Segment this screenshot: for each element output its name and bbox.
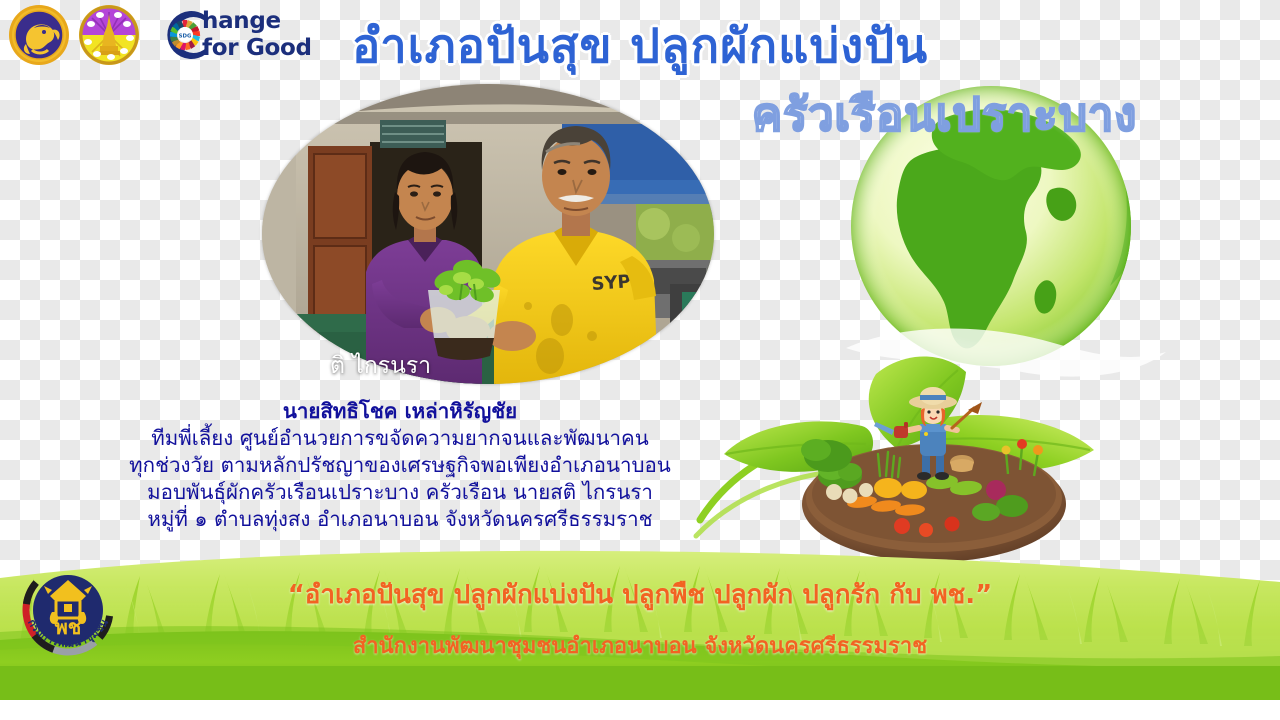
sdg-wheel-icon: SDG — [154, 4, 216, 66]
garuda-provincial-seal-icon — [8, 4, 70, 66]
footer-office-name: สำนักงานพัฒนาชุมชนอำเภอนาบอน จังหวัดนครศ… — [0, 628, 1280, 663]
svg-text:SDG: SDG — [179, 33, 192, 39]
body-line-5: หมู่ที่ ๑ ตำบลทุ่งสง อำเภอนาบอน จังหวัดน… — [0, 506, 800, 533]
body-line-3: ทุกช่วงวัย ตามหลักปรัชญาของเศรษฐกิจพอเพี… — [0, 452, 800, 479]
poster-title-line1: อำเภอปันสุข ปลูกผักแบ่งปัน — [352, 8, 1042, 83]
footer-slogan: “อำเภอปันสุข ปลูกผักแบ่งปัน ปลูกพืช ปลูก… — [0, 574, 1280, 615]
green-wave-band — [0, 548, 1280, 704]
header-logo-row: SDG hange for Good — [8, 4, 312, 66]
body-line-1: นายสิทธิโชค เหล่าหิรัญชัย — [0, 398, 800, 425]
bottom-white-strip — [0, 700, 1280, 720]
change-for-good-line1: hange — [202, 10, 312, 33]
cdd-logo: พช กรมการพัฒนาชุมชน — [14, 556, 122, 664]
change-for-good-line2: for Good — [202, 37, 312, 60]
body-text-block: นายสิทธิโชค เหล่าหิรัญชัย ทีมพี่เลี้ยง ศ… — [0, 398, 800, 533]
nakhon-si-thammarat-seal-icon — [78, 4, 140, 66]
body-line-4: มอบพันธุ์ผักครัวเรือนเปราะบาง ครัวเรือน … — [0, 479, 800, 506]
photo-caption: ติ ไกรนรา — [330, 348, 431, 384]
poster-canvas: SYP — [0, 0, 1280, 720]
cdd-monogram: พช — [55, 615, 82, 639]
svg-text:SYP: SYP — [591, 271, 632, 295]
program-photo: SYP — [262, 84, 714, 384]
poster-title-line2: ครัวเรือนเปราะบาง — [752, 78, 1272, 150]
body-line-2: ทีมพี่เลี้ยง ศูนย์อำนวยการขจัดความยากจนแ… — [0, 425, 800, 452]
change-for-good-logo: SDG hange for Good — [154, 4, 312, 66]
